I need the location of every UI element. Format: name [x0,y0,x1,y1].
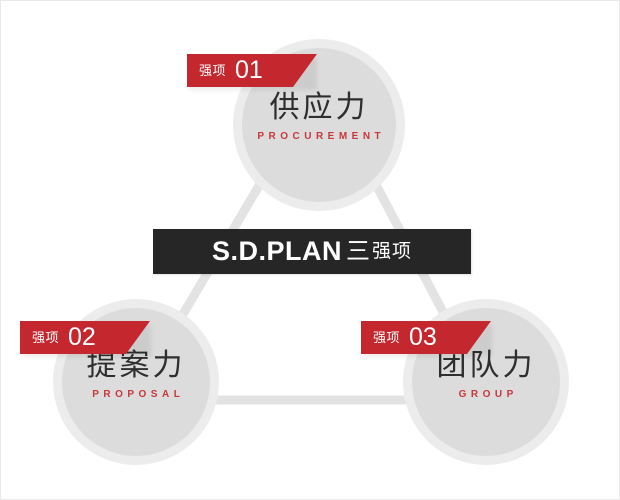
banner-small-cn-text: 强项 [372,242,412,261]
badge-content-1: 强项 01 [187,59,263,83]
badge-content-3: 强项 03 [361,326,437,350]
badge-label-2: 强项 [32,331,59,344]
badge-content-2: 强项 02 [20,326,96,350]
node-label-group: 供应力 PROCUREMENT [233,91,405,142]
badge-number-2: 02 [68,325,96,350]
node-title-en: PROPOSAL [53,389,219,400]
banner-latin-text: S.D.PLAN [212,238,342,265]
badge-label-1: 强项 [199,64,226,77]
center-banner: S.D.PLAN 三 强项 [153,229,471,274]
banner-big-cn-text: 三 [346,240,370,264]
diagram-canvas: 供应力 PROCUREMENT 强项 01 提案力 PROPOSAL 强项 02… [0,0,620,500]
badge-number-3: 03 [409,325,437,350]
badge-number-1: 01 [235,58,263,83]
node-title-en: GROUP [403,389,569,400]
badge-label-3: 强项 [373,331,400,344]
node-title-en: PROCUREMENT [233,131,405,142]
node-title-cn: 供应力 [233,91,405,125]
